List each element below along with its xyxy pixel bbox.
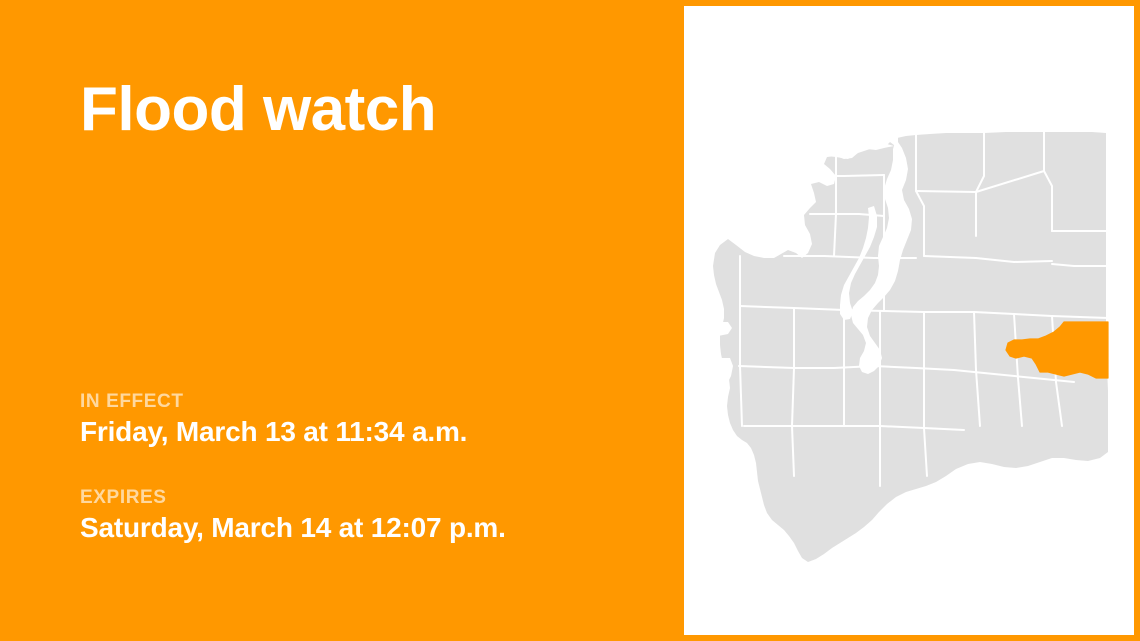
alert-timing-block: IN EFFECT Friday, March 13 at 11:34 a.m.… (80, 390, 660, 546)
map-panel (684, 6, 1134, 635)
expires-group: EXPIRES Saturday, March 14 at 12:07 p.m. (80, 486, 660, 546)
weather-alert-card: Flood watch IN EFFECT Friday, March 13 a… (0, 0, 1140, 641)
page-title: Flood watch (80, 79, 436, 141)
in-effect-group: IN EFFECT Friday, March 13 at 11:34 a.m. (80, 390, 660, 450)
county-border-4 (916, 191, 976, 192)
alert-info-panel: Flood watch IN EFFECT Friday, March 13 a… (0, 0, 684, 641)
in-effect-value: Friday, March 13 at 11:34 a.m. (80, 414, 660, 450)
in-effect-label: IN EFFECT (80, 390, 660, 414)
county-border-8 (812, 175, 884, 176)
expires-label: EXPIRES (80, 486, 660, 510)
washington-state-map (684, 6, 1134, 635)
county-border-13 (884, 311, 974, 312)
expires-value: Saturday, March 14 at 12:07 p.m. (80, 510, 660, 546)
